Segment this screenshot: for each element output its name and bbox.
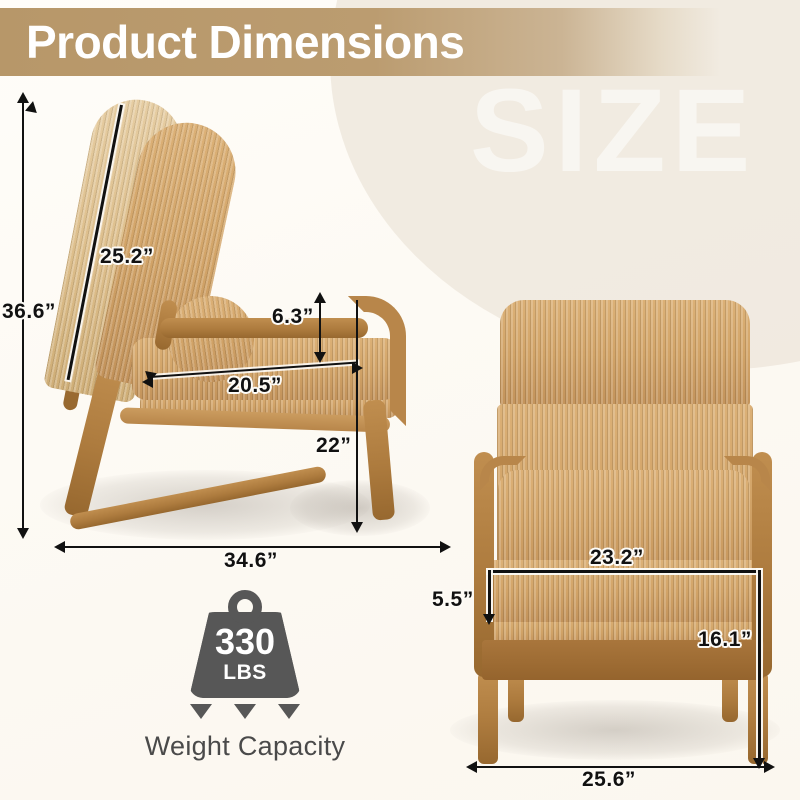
armrest-height-arrow-top bbox=[314, 292, 326, 303]
weight-capacity-block: 330 LBS Weight Capacity bbox=[130, 590, 360, 762]
seat-width-line bbox=[488, 570, 760, 573]
backrest-height-label: 25.2” bbox=[100, 245, 154, 269]
armrest-height-arrow-bottom bbox=[314, 352, 326, 363]
product-dimensions-infographic: SIZE Product Dimensions bbox=[0, 0, 800, 800]
overall-depth-arrow-right bbox=[440, 541, 451, 553]
header-banner: Product Dimensions bbox=[0, 8, 720, 76]
backrest-height-arrow-top bbox=[25, 100, 39, 113]
overall-width-label: 25.6” bbox=[582, 768, 636, 792]
weight-amount: 330 bbox=[185, 624, 305, 660]
down-triangle-icon bbox=[278, 704, 300, 719]
seat-height-label: 16.1” bbox=[698, 628, 752, 652]
overall-depth-line bbox=[62, 546, 444, 548]
back-height-line bbox=[356, 300, 358, 525]
size-watermark-text: SIZE bbox=[470, 72, 756, 190]
overall-width-arrow-right bbox=[764, 761, 775, 773]
weight-arrows-row bbox=[130, 704, 360, 719]
seat-height-line bbox=[758, 570, 761, 764]
overall-width-arrow-left bbox=[466, 761, 477, 773]
cushion-thickness-label: 5.5” bbox=[432, 588, 474, 612]
down-triangle-icon bbox=[234, 704, 256, 719]
side-armrest bbox=[160, 318, 368, 338]
cushion-thickness-arrow-bottom bbox=[483, 614, 495, 625]
overall-height-label: 36.6” bbox=[2, 300, 56, 324]
armrest-height-line bbox=[319, 300, 321, 358]
armrest-height-label: 6.3” bbox=[272, 305, 314, 329]
overall-depth-label: 34.6” bbox=[224, 549, 278, 573]
overall-depth-arrow-left bbox=[54, 541, 65, 553]
back-height-label: 22” bbox=[316, 434, 351, 458]
front-backrest-top-panel bbox=[500, 300, 750, 408]
weight-plate-icon: 330 LBS bbox=[185, 590, 305, 698]
back-height-arrow-bottom bbox=[351, 522, 363, 533]
seat-depth-arrow-right bbox=[352, 362, 363, 374]
cushion-thickness-line bbox=[488, 570, 491, 620]
weight-capacity-label: Weight Capacity bbox=[130, 731, 360, 762]
weight-handle-icon bbox=[228, 590, 262, 624]
seat-depth-label: 20.5” bbox=[228, 374, 282, 398]
overall-height-arrow-bottom bbox=[17, 528, 29, 539]
down-triangle-icon bbox=[190, 704, 212, 719]
page-title: Product Dimensions bbox=[0, 15, 464, 69]
seat-depth-arrow-left bbox=[142, 376, 153, 388]
front-left-leg bbox=[478, 672, 498, 764]
weight-unit: LBS bbox=[185, 662, 305, 683]
seat-width-label: 23.2” bbox=[590, 546, 644, 570]
